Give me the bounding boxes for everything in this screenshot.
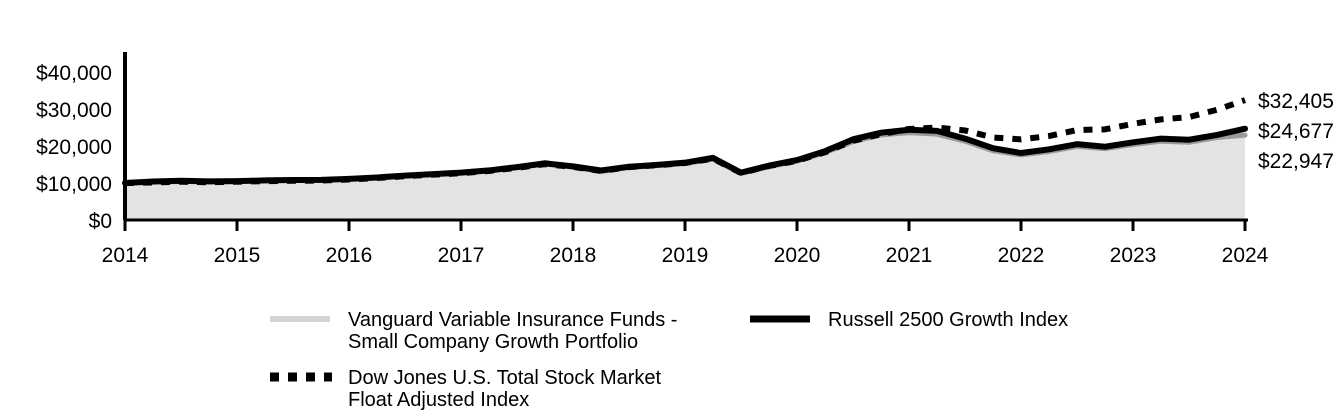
- x-axis-tick-labels: 2014201520162017201820192020202120222023…: [102, 244, 1269, 267]
- end-value-label-dow-jones: $32,405: [1258, 90, 1334, 113]
- x-axis-tick-label: 2021: [886, 244, 933, 267]
- y-axis-tick-label: $30,000: [36, 99, 112, 122]
- end-value-labels-group: $32,405 $24,677 $22,947: [1258, 90, 1334, 173]
- y-axis-tick-label: $20,000: [36, 136, 112, 159]
- end-value-label-russell: $24,677: [1258, 120, 1334, 143]
- y-axis-tick-label: $0: [89, 210, 112, 233]
- legend-label-vanguard-line1: Vanguard Variable Insurance Funds -: [348, 309, 677, 331]
- x-axis-group: 2014201520162017201820192020202120222023…: [102, 220, 1269, 267]
- x-axis-tick-label: 2024: [1222, 244, 1269, 267]
- x-axis-tick-label: 2020: [774, 244, 821, 267]
- x-axis-tick-label: 2014: [102, 244, 149, 267]
- legend-label-russell-line1: Russell 2500 Growth Index: [828, 309, 1068, 331]
- x-axis-tick-label: 2019: [662, 244, 709, 267]
- x-axis-tick-label: 2022: [998, 244, 1045, 267]
- x-axis-tick-label: 2018: [550, 244, 597, 267]
- x-axis-tick-label: 2017: [438, 244, 485, 267]
- legend-group: Vanguard Variable Insurance Funds - Smal…: [270, 309, 1068, 411]
- x-axis-tick-label: 2016: [326, 244, 373, 267]
- y-axis-tick-label: $10,000: [36, 173, 112, 196]
- end-value-label-vanguard: $22,947: [1258, 150, 1334, 173]
- y-axis-tick-label: $40,000: [36, 62, 112, 85]
- x-axis-tick-label: 2023: [1110, 244, 1157, 267]
- legend-label-dow-jones-line1: Dow Jones U.S. Total Stock Market: [348, 367, 662, 389]
- x-axis-tick-label: 2015: [214, 244, 261, 267]
- chart-canvas: $0 $10,000 $20,000 $30,000 $40,000 20142…: [0, 0, 1344, 420]
- x-axis-ticks: [125, 220, 1245, 231]
- legend-label-vanguard-line2: Small Company Growth Portfolio: [348, 331, 638, 353]
- growth-of-investment-chart: $0 $10,000 $20,000 $30,000 $40,000 20142…: [0, 0, 1344, 420]
- legend-label-dow-jones-line2: Float Adjusted Index: [348, 389, 529, 411]
- y-axis-group: $0 $10,000 $20,000 $30,000 $40,000: [36, 52, 125, 233]
